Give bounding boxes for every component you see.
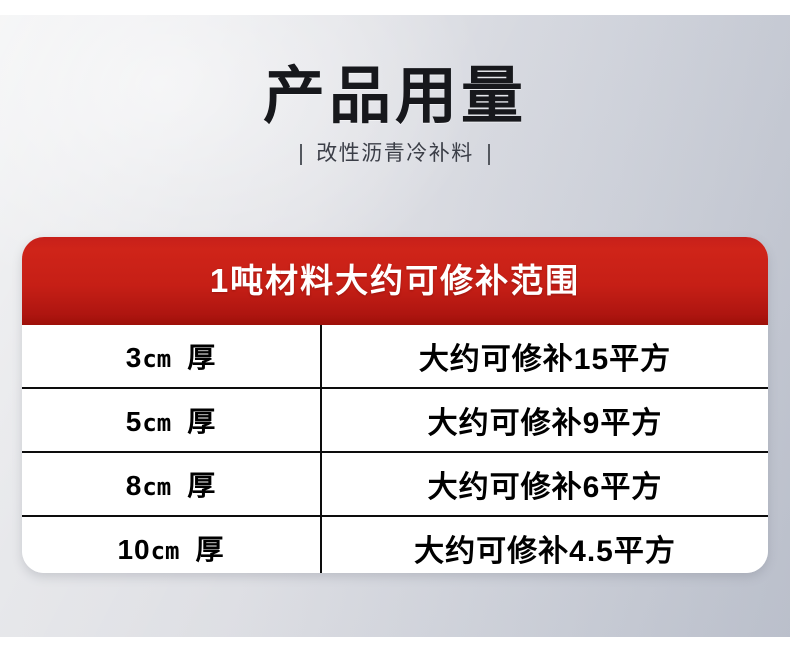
coverage-value: 大约可修补9平方 [428,407,663,440]
thickness-value: 8 [126,470,143,501]
coverage-value: 大约可修补15平方 [419,343,671,376]
grey-background-panel: 产品用量 改性沥青冷补料 1吨材料大约可修补范围 3cm厚 [0,15,790,637]
table-cell-coverage: 大约可修补4.5平方 [321,516,768,573]
thickness-value: 10 [117,534,150,565]
table-row: 10cm厚 大约可修补4.5平方 [22,516,768,573]
coverage-value: 大约可修补6平方 [428,471,663,504]
thickness-unit: cm [142,409,171,437]
page-title: 产品用量 [0,61,790,133]
table-cell-coverage: 大约可修补15平方 [321,325,768,388]
product-usage-infographic: 产品用量 改性沥青冷补料 1吨材料大约可修补范围 3cm厚 [0,0,790,651]
spec-card: 1吨材料大约可修补范围 3cm厚 大约可修补15平方 5cm厚 [22,237,768,573]
table-cell-thickness: 3cm厚 [22,325,321,388]
spec-card-header-title: 1吨材料大约可修补范围 [210,262,580,300]
table-cell-thickness: 8cm厚 [22,452,321,516]
thickness-unit: cm [151,537,180,565]
thickness-unit: cm [142,345,171,373]
spec-card-header: 1吨材料大约可修补范围 [22,237,768,325]
subtitle-row: 改性沥青冷补料 [0,141,790,167]
page-subtitle: 改性沥青冷补料 [316,141,474,167]
thickness-value: 3 [126,342,143,373]
table-cell-coverage: 大约可修补6平方 [321,452,768,516]
table-row: 5cm厚 大约可修补9平方 [22,388,768,452]
table-row: 3cm厚 大约可修补15平方 [22,325,768,388]
thickness-label: 厚 [196,534,225,565]
table-cell-coverage: 大约可修补9平方 [321,388,768,452]
subtitle-right-divider-icon [488,144,490,165]
coverage-value: 大约可修补4.5平方 [414,535,676,568]
heading-block: 产品用量 改性沥青冷补料 [0,61,790,167]
thickness-value: 5 [126,406,143,437]
thickness-label: 厚 [187,342,216,373]
table-row: 8cm厚 大约可修补6平方 [22,452,768,516]
thickness-label: 厚 [187,406,216,437]
thickness-unit: cm [142,473,171,501]
subtitle-left-divider-icon [300,144,302,165]
table-cell-thickness: 5cm厚 [22,388,321,452]
table-cell-thickness: 10cm厚 [22,516,321,573]
thickness-label: 厚 [187,470,216,501]
coverage-table: 3cm厚 大约可修补15平方 5cm厚 大约可修补9平方 [22,325,768,573]
